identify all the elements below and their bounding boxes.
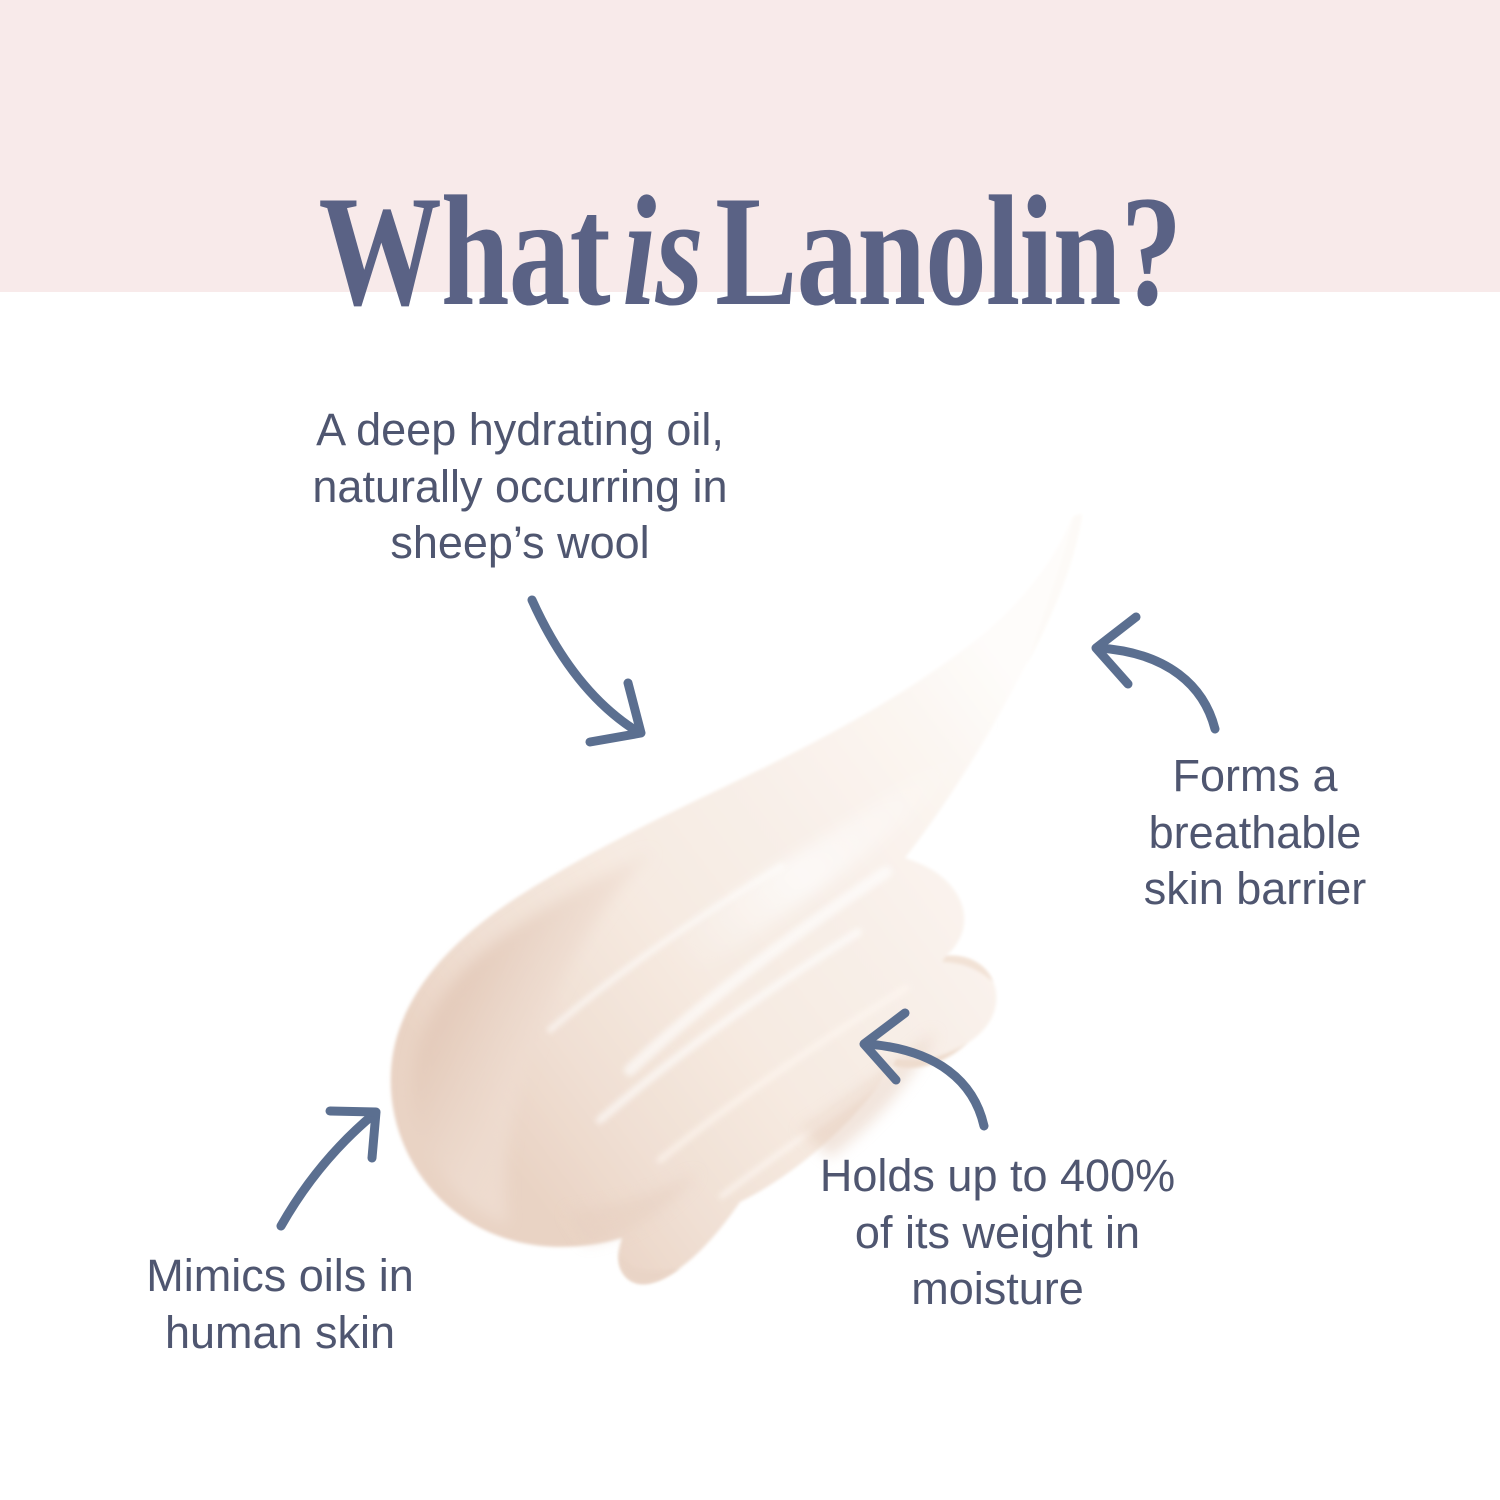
title-part1: What bbox=[318, 173, 609, 331]
curved-arrow-up-right-icon bbox=[281, 1111, 376, 1226]
curved-arrow-up-left-icon-right bbox=[1096, 617, 1215, 729]
title-part2: Lanolin? bbox=[715, 173, 1181, 331]
callout-mimics-oils: Mimics oils in human skin bbox=[80, 1248, 480, 1361]
callout-moisture: Holds up to 400% of its weight in moistu… bbox=[735, 1148, 1260, 1318]
curved-arrow-up-left-icon-bottom bbox=[864, 1013, 984, 1126]
callout-skin-barrier: Forms a breathable skin barrier bbox=[1055, 748, 1455, 918]
infographic-canvas: WhatisLanolin? bbox=[0, 0, 1500, 1500]
title-emphasis: is bbox=[610, 173, 715, 331]
page-title: WhatisLanolin? bbox=[165, 106, 1335, 398]
callout-hydrating-oil: A deep hydrating oil, naturally occurrin… bbox=[230, 402, 810, 572]
curved-arrow-down-right-icon bbox=[532, 600, 641, 742]
